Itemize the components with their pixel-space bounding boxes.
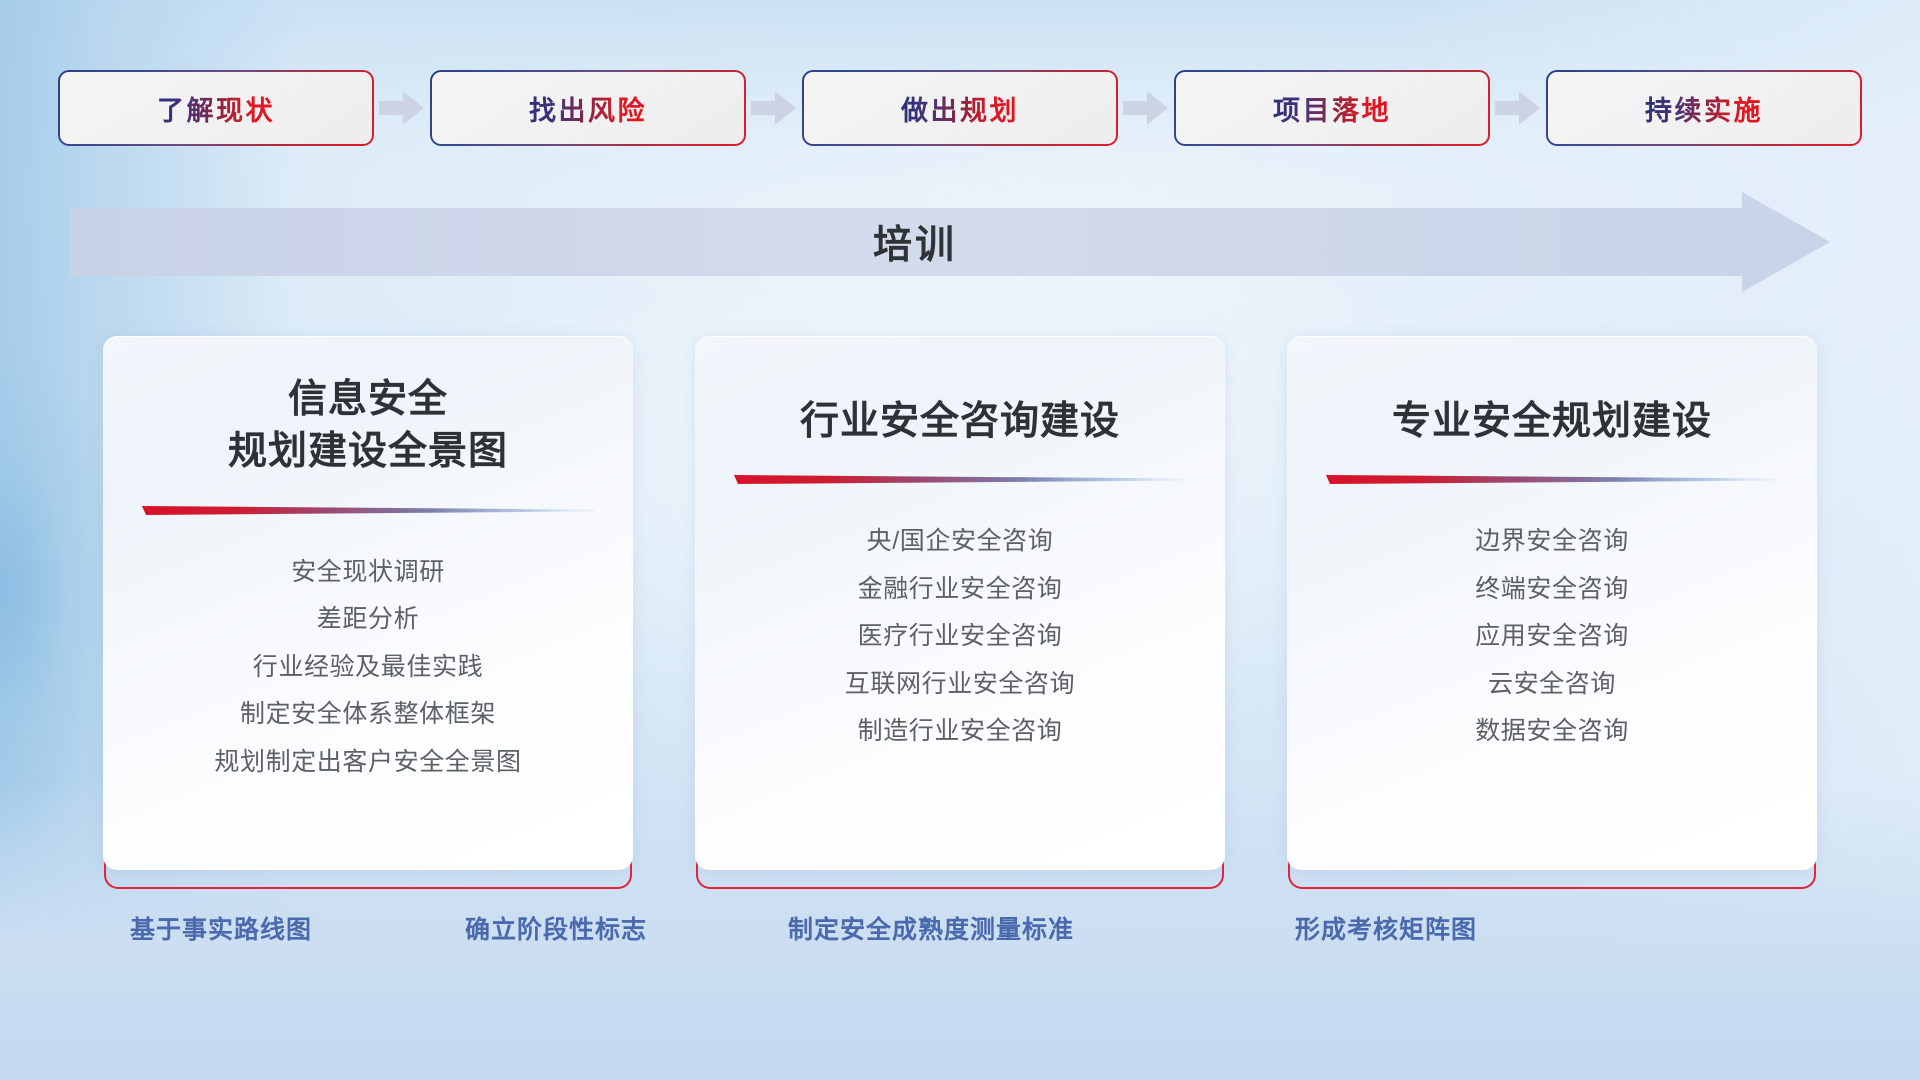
card-list-item: 云安全咨询 [1488,664,1616,705]
card-item-list: 边界安全咨询终端安全咨询应用安全咨询云安全咨询数据安全咨询 [1475,521,1629,752]
caption-row: 基于事实路线图确立阶段性标志制定安全成熟度测量标准形成考核矩阵图 [0,910,1920,964]
card-list-item: 应用安全咨询 [1475,616,1629,657]
banner-label: 培训 [873,214,957,270]
card-list-item: 数据安全咨询 [1475,711,1629,752]
banner-label-wrap: 培训 [70,192,1830,292]
process-step-1[interactable]: 了解现状 [60,72,372,144]
card-list-item: 规划制定出客户安全全景图 [214,742,521,783]
card-accent-line [142,501,594,518]
outcome-caption-3: 制定安全成熟度测量标准 [788,910,1074,946]
arrow-right-icon [1488,72,1548,144]
card-list-item: 边界安全咨询 [1475,521,1629,562]
card-list-item: 差距分析 [317,599,419,640]
card-list-item: 安全现状调研 [291,552,445,593]
process-step-3[interactable]: 做出规划 [804,72,1116,144]
arrow-right-icon [1116,72,1176,144]
arrow-right-icon [744,72,804,144]
card-list-item: 金融行业安全咨询 [858,569,1063,610]
process-step-row: 了解现状找出风险做出规划项目落地持续实施 [0,72,1920,144]
card-list-item: 行业经验及最佳实践 [253,647,483,688]
card-accent-line [734,470,1186,487]
process-step-label: 找出风险 [529,89,647,128]
training-banner: 培训 [70,192,1830,292]
card-row: 信息安全 规划建设全景图安全现状调研差距分析行业经验及最佳实践制定安全体系整体框… [0,336,1920,876]
card-item-list: 央/国企安全咨询金融行业安全咨询医疗行业安全咨询互联网行业安全咨询制造行业安全咨… [845,521,1075,752]
card-item-list: 安全现状调研差距分析行业经验及最佳实践制定安全体系整体框架规划制定出客户安全全景… [214,552,521,783]
arrow-right-icon [372,72,432,144]
card-title: 信息安全 规划建设全景图 [228,374,508,479]
card-list-item: 央/国企安全咨询 [867,521,1054,562]
card-list-item: 终端安全咨询 [1475,569,1629,610]
card-header: 信息安全 规划建设全景图 [103,336,633,518]
process-step-label: 项目落地 [1273,89,1391,128]
slide-content: 了解现状找出风险做出规划项目落地持续实施 培训 信息安全 规划建设全景图安全现状… [0,0,1920,1080]
card-list-item: 医疗行业安全咨询 [858,616,1063,657]
card-list-item: 互联网行业安全咨询 [845,664,1075,705]
card-title: 行业安全咨询建设 [800,374,1120,448]
outcome-caption-4: 形成考核矩阵图 [1295,910,1477,946]
process-step-5[interactable]: 持续实施 [1548,72,1860,144]
card-accent-line [1326,470,1778,487]
process-step-2[interactable]: 找出风险 [432,72,744,144]
process-step-label: 了解现状 [157,89,275,128]
outcome-caption-2: 确立阶段性标志 [465,910,647,946]
service-card-3[interactable]: 专业安全规划建设边界安全咨询终端安全咨询应用安全咨询云安全咨询数据安全咨询 [1287,336,1817,870]
service-card-2[interactable]: 行业安全咨询建设央/国企安全咨询金融行业安全咨询医疗行业安全咨询互联网行业安全咨… [695,336,1225,870]
card-title: 专业安全规划建设 [1392,374,1712,448]
card-list-item: 制定安全体系整体框架 [240,694,496,735]
service-card-1[interactable]: 信息安全 规划建设全景图安全现状调研差距分析行业经验及最佳实践制定安全体系整体框… [103,336,633,870]
card-header: 行业安全咨询建设 [695,336,1225,487]
process-step-label: 做出规划 [901,89,1019,128]
card-list-item: 制造行业安全咨询 [858,711,1063,752]
card-header: 专业安全规划建设 [1287,336,1817,487]
outcome-caption-1: 基于事实路线图 [130,910,312,946]
process-step-label: 持续实施 [1645,89,1763,128]
process-step-4[interactable]: 项目落地 [1176,72,1488,144]
